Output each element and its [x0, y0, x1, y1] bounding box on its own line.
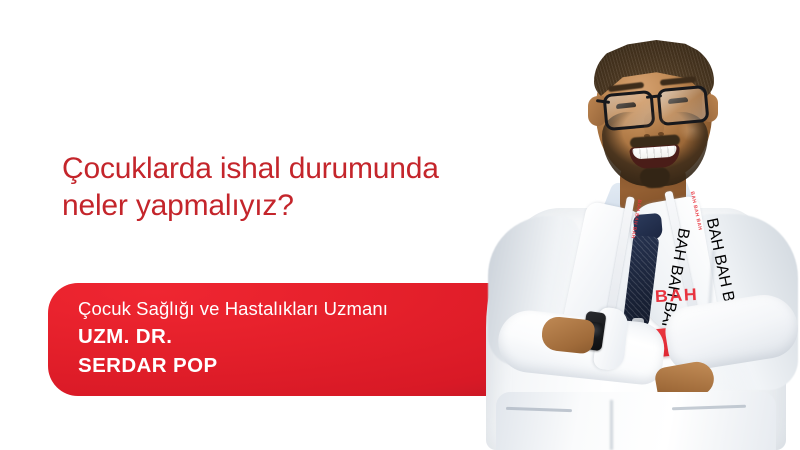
headline-line-2: neler yapmalıyız? — [62, 187, 522, 224]
coat-fold-center — [610, 400, 613, 450]
teeth-separations — [632, 145, 677, 159]
doctor-portrait-photo: BAH BAH BAH BAH BAH BAH BAH BAH BAH BAH … — [470, 0, 800, 450]
chest-logo: BAH — [656, 285, 698, 307]
headline-line-1: Çocuklarda ishal durumunda — [62, 150, 522, 187]
eyeglasses-lens-right — [656, 85, 709, 126]
doctor-name-label: SERDAR POP — [78, 352, 388, 379]
doctor-specialty-label: Çocuk Sağlığı ve Hastalıkları Uzmanı — [78, 297, 388, 321]
page-title: Çocuklarda ishal durumunda neler yapmalı… — [62, 150, 522, 224]
coat-hem — [496, 392, 776, 450]
video-thumbnail-card: Çocuklarda ishal durumunda neler yapmalı… — [0, 0, 800, 450]
doctor-title-label: UZM. DR. — [78, 323, 388, 350]
banner-text-group: Çocuk Sağlığı ve Hastalıkları Uzmanı UZM… — [78, 297, 388, 379]
chest-logo-text: BAH — [654, 285, 698, 307]
